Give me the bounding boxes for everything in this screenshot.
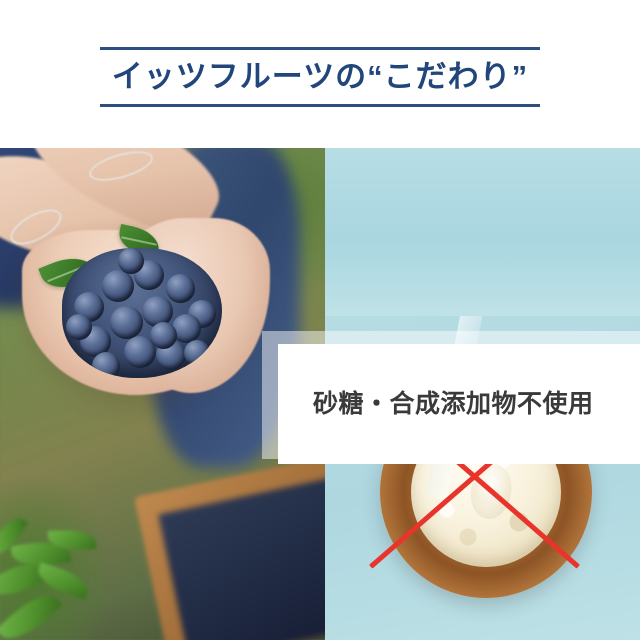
title-rule-bottom <box>100 104 540 107</box>
teal-panel <box>325 148 640 316</box>
crate-contents <box>158 478 325 640</box>
page-title: イッツフルーツの“こだわり” <box>0 54 640 100</box>
no-sugar-card-label: 砂糖・合成添加物不使用 <box>313 385 594 423</box>
header: イッツフルーツの“こだわり” <box>0 0 640 148</box>
title-rule-top <box>100 47 540 50</box>
no-sugar-card: 砂糖・合成添加物不使用 <box>278 344 640 464</box>
foreground-plant <box>0 508 116 640</box>
blueberry-pile <box>62 248 222 378</box>
photo-grid: 砂糖・合成添加物不使用 JAS 有機認証を取得した 原料を使用 <box>0 148 640 640</box>
